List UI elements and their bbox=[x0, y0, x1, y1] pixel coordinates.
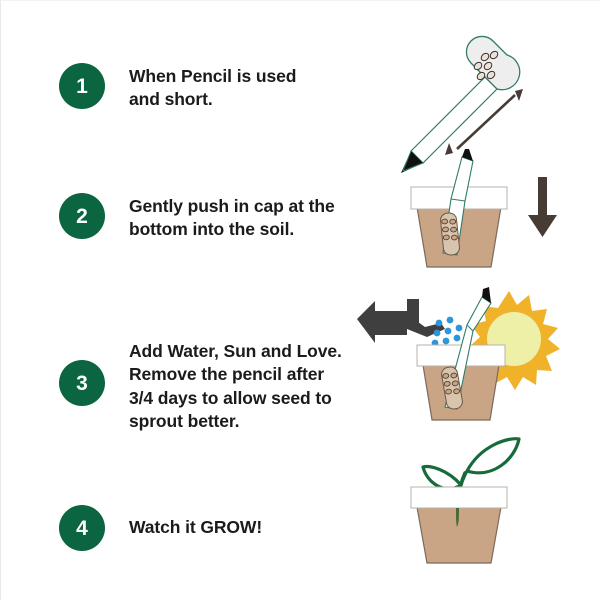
step-3-text: Add Water, Sun and Love. Remove the penc… bbox=[129, 338, 342, 433]
seed-capsule-icon bbox=[466, 36, 519, 89]
step-3: 3 Add Water, Sun and Love. Remove the pe… bbox=[59, 338, 359, 433]
step-1: 1 When Pencil is used and short. bbox=[59, 63, 359, 112]
step-3-illustration bbox=[349, 283, 589, 439]
step-4-illustration bbox=[401, 429, 581, 569]
infographic-canvas: 1 When Pencil is used and short. bbox=[0, 0, 600, 600]
step-2-text: Gently push in cap at the bottom into th… bbox=[129, 193, 335, 242]
step-3-number-badge: 3 bbox=[59, 360, 105, 406]
step-4-text: Watch it GROW! bbox=[129, 505, 262, 539]
down-arrow-icon bbox=[528, 177, 557, 237]
step-4-number-badge: 4 bbox=[59, 505, 105, 551]
step-4: 4 Watch it GROW! bbox=[59, 505, 359, 551]
watering-can-icon bbox=[357, 299, 445, 343]
step-2-illustration bbox=[399, 149, 589, 281]
flower-pot-icon bbox=[411, 487, 507, 563]
step-2-number-badge: 2 bbox=[59, 193, 105, 239]
step-1-number-badge: 1 bbox=[59, 63, 105, 109]
step-1-text: When Pencil is used and short. bbox=[129, 63, 296, 112]
step-2: 2 Gently push in cap at the bottom into … bbox=[59, 193, 359, 242]
